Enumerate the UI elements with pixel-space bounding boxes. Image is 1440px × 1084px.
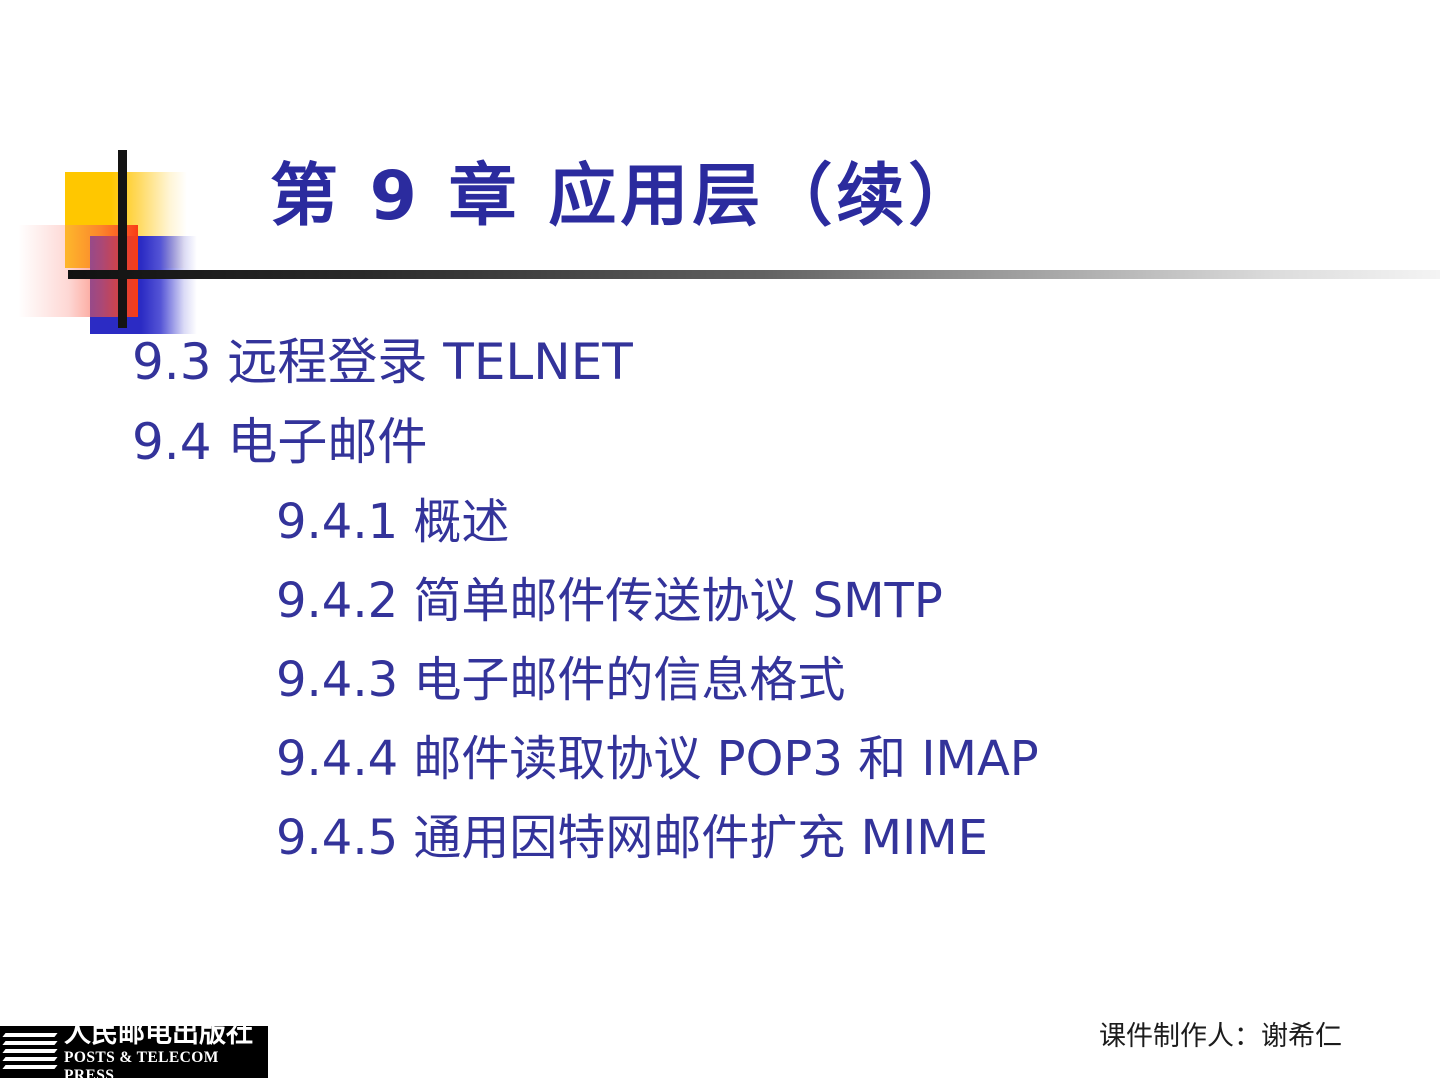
outline-item-9-3: 9.3 远程登录 TELNET — [0, 322, 1440, 402]
outline-item-9-4-1: 9.4.1 概述 — [0, 482, 1440, 561]
outline-item-9-4: 9.4 电子邮件 — [0, 402, 1440, 482]
outline-item-9-4-5: 9.4.5 通用因特网邮件扩充 MIME — [0, 798, 1440, 877]
outline-item-9-4-2: 9.4.2 简单邮件传送协议 SMTP — [0, 561, 1440, 640]
outline-item-label: 9.4.4 邮件读取协议 POP3 和 IMAP — [276, 735, 1039, 783]
publisher-logo-text: 人民邮电出版社 POSTS & TELECOM PRESS — [64, 1020, 268, 1083]
outline-item-label: 9.4 电子邮件 — [132, 417, 427, 467]
outline-item-9-4-3: 9.4.3 电子邮件的信息格式 — [0, 640, 1440, 719]
stacked-books-icon — [4, 1029, 58, 1075]
publisher-name-cn: 人民邮电出版社 — [64, 1020, 268, 1047]
title-divider-rule — [68, 270, 1440, 279]
outline-item-label: 9.4.2 简单邮件传送协议 SMTP — [276, 577, 943, 625]
outline-item-label: 9.4.5 通用因特网邮件扩充 MIME — [276, 814, 988, 862]
outline-item-label: 9.4.1 概述 — [276, 498, 509, 546]
outline-item-label: 9.4.3 电子邮件的信息格式 — [276, 656, 845, 704]
publisher-logo: 人民邮电出版社 POSTS & TELECOM PRESS — [0, 1026, 268, 1078]
outline-item-9-4-4: 9.4.4 邮件读取协议 POP3 和 IMAP — [0, 719, 1440, 798]
publisher-name-en: POSTS & TELECOM PRESS — [64, 1049, 268, 1083]
outline-item-label: 9.3 远程登录 TELNET — [132, 337, 633, 387]
slide-canvas: 第 9 章 应用层（续） 9.3 远程登录 TELNET 9.4 电子邮件 9.… — [0, 0, 1440, 1080]
author-credit: 课件制作人：谢希仁 — [1099, 1014, 1342, 1053]
decoration-vertical-bar — [118, 150, 127, 328]
page-title: 第 9 章 应用层（续） — [270, 160, 1270, 235]
outline-list: 9.3 远程登录 TELNET 9.4 电子邮件 9.4.1 概述 9.4.2 … — [0, 322, 1440, 877]
